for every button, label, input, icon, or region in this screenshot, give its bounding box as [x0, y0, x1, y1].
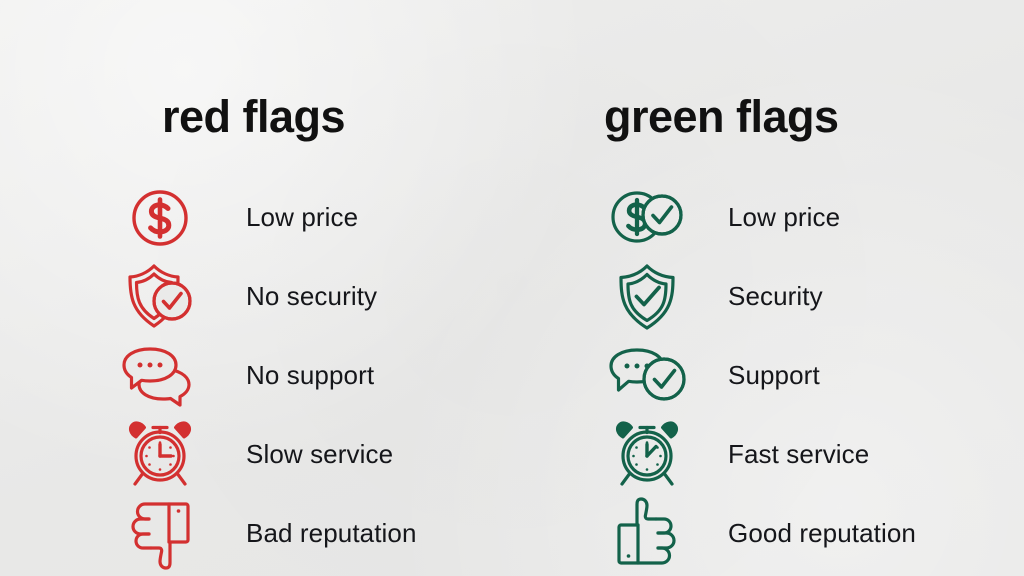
thumbs-down-icon [108, 499, 212, 569]
shield-check-icon [595, 262, 699, 332]
list-item: Slow service [0, 415, 512, 494]
column-title-red-flags: red flags [162, 94, 512, 146]
list-item: Low price [0, 178, 512, 257]
alarm-clock-icon [595, 420, 699, 490]
chat-bubble-check-icon [595, 341, 699, 411]
list-item: Security [512, 257, 1024, 336]
shield-check-warning-icon [108, 262, 212, 332]
list-item-label: Low price [728, 202, 840, 233]
list-item-label: Good reputation [728, 518, 916, 549]
thumbs-up-icon [595, 499, 699, 569]
list-item: Bad reputation [0, 494, 512, 573]
list-item: No support [0, 336, 512, 415]
comparison-board: red flags Low price [0, 0, 1024, 576]
alarm-clock-icon [108, 420, 212, 490]
list-item-label: Security [728, 281, 823, 312]
list-item: Fast service [512, 415, 1024, 494]
red-flags-list: Low price No security [0, 178, 512, 573]
chat-bubbles-icon [108, 341, 212, 411]
list-item-label: No security [246, 281, 377, 312]
column-green-flags: green flags Low price [512, 0, 1024, 576]
list-item: Low price [512, 178, 1024, 257]
list-item: Support [512, 336, 1024, 415]
column-title-green-flags: green flags [604, 94, 1024, 146]
dollar-circle-icon [108, 183, 212, 253]
list-item-label: Support [728, 360, 820, 391]
column-red-flags: red flags Low price [0, 0, 512, 576]
list-item-label: No support [246, 360, 374, 391]
green-flags-list: Low price Security [512, 178, 1024, 573]
list-item-label: Slow service [246, 439, 393, 470]
list-item-label: Low price [246, 202, 358, 233]
list-item: Good reputation [512, 494, 1024, 573]
dollar-circle-check-icon [595, 183, 699, 253]
list-item-label: Fast service [728, 439, 869, 470]
list-item: No security [0, 257, 512, 336]
list-item-label: Bad reputation [246, 518, 417, 549]
